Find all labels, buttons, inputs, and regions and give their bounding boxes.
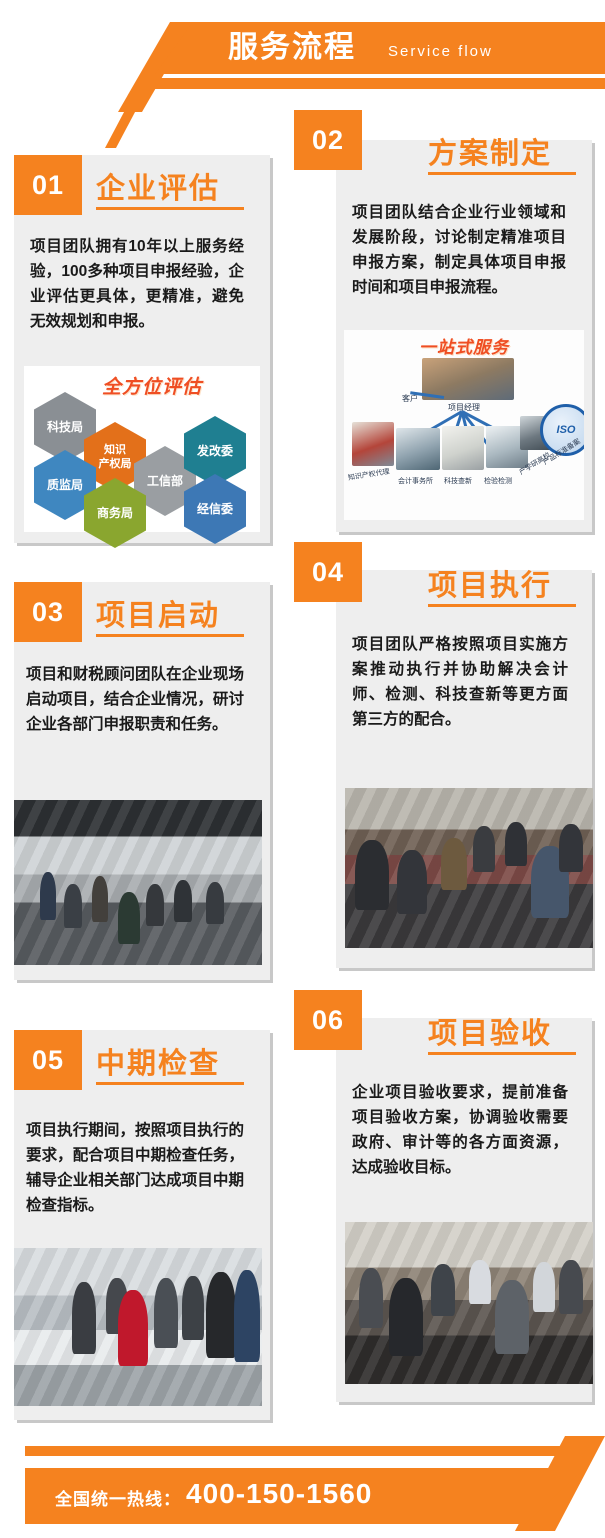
page-title: 服务流程	[228, 28, 356, 68]
header-main-band	[155, 22, 605, 74]
step-title-03: 项目启动	[96, 592, 220, 634]
step-title-02: 方案制定	[428, 130, 552, 172]
hotline-label: 全国统一热线：	[55, 1485, 181, 1510]
step-photo-05	[14, 1248, 262, 1406]
step-title-06: 项目验收	[428, 1010, 552, 1052]
one-stop-node-photo	[442, 426, 484, 470]
photo-figures	[345, 1222, 593, 1384]
step-badge-02: 02	[294, 110, 362, 170]
step-title-rule-03	[96, 634, 244, 637]
step-badge-01: 01	[14, 155, 82, 215]
one-stop-node-photo	[396, 428, 440, 470]
hex-node-label: 知识产权局	[99, 443, 132, 471]
one-stop-service-diagram: 一站式服务 客户 项目经理 ISO 知识产权代理 会计事务所 科技查新 检验检测…	[344, 330, 584, 520]
one-stop-node-label: 知识产权代理	[347, 466, 390, 482]
step-title-04: 项目执行	[428, 562, 552, 604]
step-body-02: 项目团队结合企业行业领域和发展阶段，讨论制定精准项目申报方案，制定具体项目申报时…	[352, 200, 566, 300]
hex-node-label: 质监局	[47, 478, 83, 492]
hex-node-label: 科技局	[47, 420, 83, 434]
step-photo-04	[345, 788, 593, 948]
hex-chart-title: 全方位评估	[102, 372, 202, 399]
step-badge-03: 03	[14, 582, 82, 642]
infographic-page: 服务流程 Service flow 01 企业评估 项目团队拥有10年以上服务经…	[0, 0, 605, 1538]
one-stop-node-label: 科技查新	[444, 476, 472, 486]
photo-figures	[345, 788, 593, 948]
step-badge-06: 06	[294, 990, 362, 1050]
one-stop-node-label: 检验检测	[484, 476, 512, 486]
assessment-hex-chart: 全方位评估 科技局 知识产权局 质监局 工信部 商务局 发改委 经信委	[24, 366, 260, 532]
page-footer: 全国统一热线： 400-150-1560	[0, 1428, 605, 1538]
step-title-rule-04	[428, 604, 576, 607]
one-stop-hero-photo	[422, 358, 514, 400]
step-title-01: 企业评估	[96, 165, 220, 207]
step-body-03: 项目和财税顾问团队在企业现场启动项目，结合企业情况，研讨企业各部门申报职责和任务…	[26, 662, 244, 737]
step-photo-03	[14, 800, 262, 965]
one-stop-node-label: 会计事务所	[398, 476, 433, 486]
step-badge-04: 04	[294, 542, 362, 602]
page-subtitle: Service flow	[388, 40, 493, 64]
step-badge-05: 05	[14, 1030, 82, 1090]
step-photo-06	[345, 1222, 593, 1384]
photo-figures	[14, 1248, 262, 1406]
photo-figures	[14, 800, 262, 965]
step-title-rule-05	[96, 1082, 244, 1085]
step-title-05: 中期检查	[96, 1040, 220, 1082]
step-title-rule-06	[428, 1052, 576, 1055]
hex-node-label: 工信部	[147, 474, 183, 488]
step-title-rule-01	[96, 207, 244, 210]
one-stop-node-photo	[352, 422, 394, 466]
step-title-rule-02	[428, 172, 576, 175]
page-header: 服务流程 Service flow	[0, 0, 605, 110]
hex-node-label: 经信委	[197, 502, 233, 516]
one-stop-title: 一站式服务	[419, 333, 509, 358]
hex-node-label: 商务局	[97, 506, 133, 520]
iso-seal-label: ISO	[557, 424, 576, 436]
hotline-number[interactable]: 400-150-1560	[186, 1478, 372, 1510]
step-body-05: 项目执行期间，按照项目执行的要求，配合项目中期检查任务，辅导企业相关部门达成项目…	[26, 1118, 244, 1218]
step-body-06: 企业项目验收要求，提前准备项目验收方案，协调验收需要政府、审计等的各方面资源，达…	[352, 1080, 568, 1180]
footer-accent-band	[25, 1446, 585, 1456]
header-accent-band	[142, 78, 605, 89]
step-body-04: 项目团队严格按照项目实施方案推动执行并协助解决会计师、检测、科技查新等更方面第三…	[352, 632, 568, 732]
step-body-01: 项目团队拥有10年以上服务经验，100多种项目申报经验，企业评估更具体，更精准，…	[30, 234, 244, 334]
hex-node-label: 发改委	[197, 444, 233, 458]
